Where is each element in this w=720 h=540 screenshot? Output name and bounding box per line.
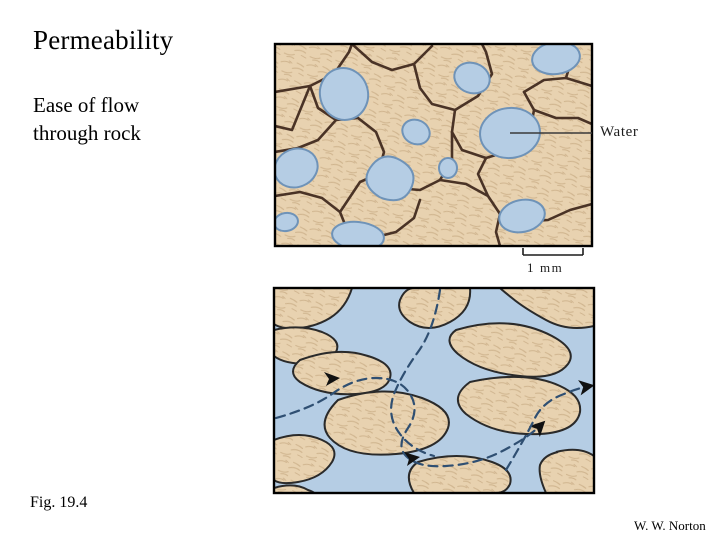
water-callout-label: Water [600, 124, 638, 141]
scale-bar-label: 1 mm [527, 260, 563, 276]
page-title: Permeability [33, 26, 173, 54]
subtitle-block: Ease of flow through rock [33, 92, 141, 147]
permeability-panel [274, 288, 594, 493]
subtitle-line-2: through rock [33, 120, 141, 148]
scale-bar [523, 248, 583, 255]
publisher-credit: W. W. Norton [634, 518, 706, 534]
flow-arrowhead [324, 372, 420, 466]
porosity-panel-border [275, 44, 592, 246]
porosity-panel [268, 39, 592, 253]
permeability-panel-border [274, 288, 594, 493]
slide-canvas: Permeability Ease of flow through rock [0, 0, 720, 540]
figure-number: Fig. 19.4 [30, 494, 87, 512]
figure-illustration [0, 0, 720, 540]
subtitle-line-1: Ease of flow [33, 92, 141, 120]
